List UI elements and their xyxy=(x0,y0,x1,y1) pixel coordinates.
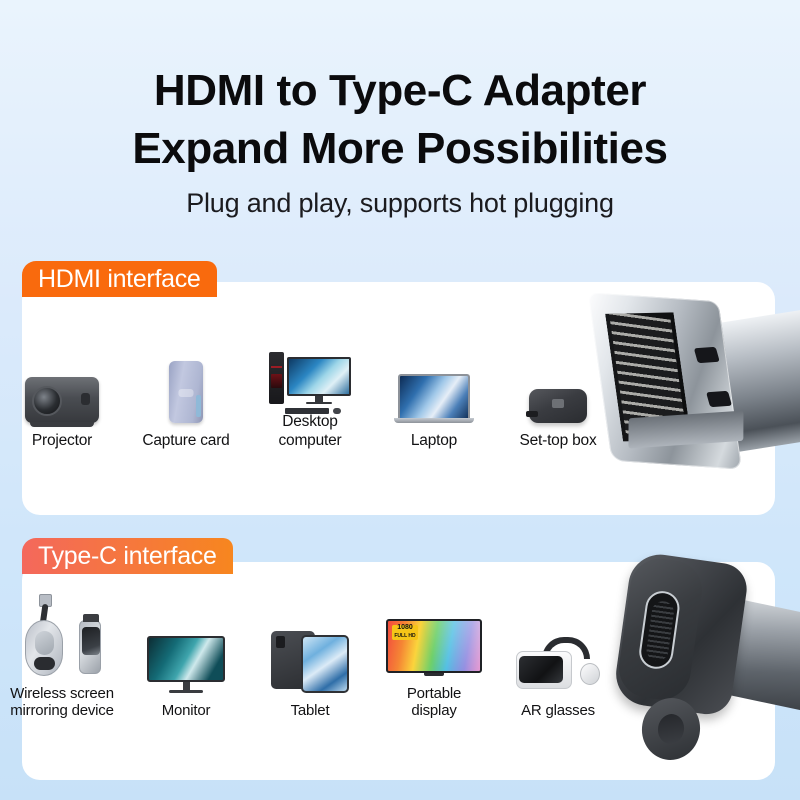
device-tablet: Tablet xyxy=(254,607,366,720)
device-label-capture-card: Capture card xyxy=(142,432,229,450)
capture-card-icon xyxy=(130,337,242,423)
device-portable-display: 1080 FULL HD Portable display xyxy=(378,590,490,720)
device-label-desktop-computer: Desktop computer xyxy=(278,413,341,450)
desktop-computer-icon xyxy=(254,318,366,404)
device-desktop-computer: Desktop computer xyxy=(254,318,366,450)
projector-icon xyxy=(6,337,118,423)
resolution-badge: 1080 FULL HD xyxy=(392,625,418,640)
page-title-line-1: HDMI to Type-C Adapter xyxy=(0,62,800,120)
device-label-ar-glasses: AR glasses xyxy=(521,702,595,720)
hdmi-device-list: Projector Capture card Desktop computer … xyxy=(0,300,620,450)
typec-device-list: Wireless screen mirroring device Monitor… xyxy=(0,580,620,720)
hdmi-slot-lower xyxy=(706,391,732,407)
wireless-mirroring-icon xyxy=(6,590,118,676)
typec-connector-head xyxy=(612,551,750,718)
laptop-icon xyxy=(378,337,490,423)
ar-glasses-icon xyxy=(502,607,614,693)
device-label-tablet: Tablet xyxy=(291,702,330,720)
tablet-icon xyxy=(254,607,366,693)
wireless-label-line-1: Wireless screen xyxy=(10,685,114,702)
device-ar-glasses: AR glasses xyxy=(502,607,614,720)
portable-label-line-1: Portable xyxy=(407,685,461,702)
desktop-label-line-1: Desktop xyxy=(282,413,337,430)
page-header: HDMI to Type-C Adapter Expand More Possi… xyxy=(0,0,800,219)
resolution-badge-sub: FULL HD xyxy=(394,632,415,640)
typec-interface-badge: Type-C interface xyxy=(22,538,233,574)
desktop-label-line-2: computer xyxy=(278,432,341,449)
page-subtitle: Plug and play, supports hot plugging xyxy=(0,188,800,219)
hdmi-connector-lip xyxy=(628,410,743,448)
device-label-monitor: Monitor xyxy=(162,702,211,720)
hdmi-slot-upper xyxy=(694,347,720,363)
monitor-icon xyxy=(130,607,242,693)
typec-connector-face xyxy=(615,555,706,704)
device-label-laptop: Laptop xyxy=(411,432,457,450)
device-label-wireless-mirroring: Wireless screen mirroring device xyxy=(10,685,114,720)
device-capture-card: Capture card xyxy=(130,337,242,450)
resolution-badge-main: 1080 xyxy=(397,624,413,632)
device-projector: Projector xyxy=(6,337,118,450)
hdmi-male-connector xyxy=(593,278,800,498)
hdmi-connector-head xyxy=(588,292,742,469)
device-label-set-top-box: Set-top box xyxy=(519,432,596,450)
portable-label-line-2: display xyxy=(411,702,456,719)
device-wireless-mirroring: Wireless screen mirroring device xyxy=(6,590,118,720)
wireless-label-line-2: mirroring device xyxy=(10,702,114,719)
device-monitor: Monitor xyxy=(130,607,242,720)
device-label-portable-display: Portable display xyxy=(407,685,461,720)
typec-port-opening xyxy=(637,589,682,671)
portable-display-icon: 1080 FULL HD xyxy=(378,590,490,676)
device-laptop: Laptop xyxy=(378,337,490,450)
hdmi-interface-badge: HDMI interface xyxy=(22,261,217,297)
device-label-projector: Projector xyxy=(32,432,92,450)
usb-c-female-connector xyxy=(600,548,800,793)
page-title-line-2: Expand More Possibilities xyxy=(0,120,800,178)
